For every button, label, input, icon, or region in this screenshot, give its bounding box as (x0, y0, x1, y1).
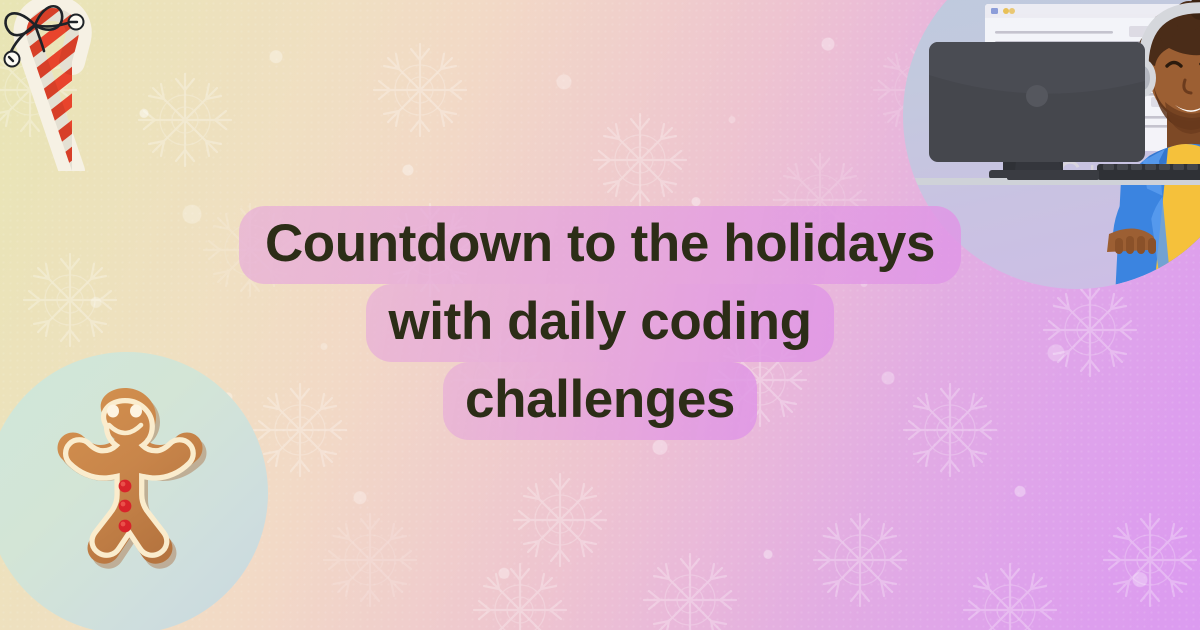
headline-line-1-text: Countdown to the holidays (239, 206, 961, 284)
headline-line-1: Countdown to the holidays (0, 206, 1200, 284)
page-title: Countdown to the holidays with daily cod… (0, 206, 1200, 440)
headline-line-3-text: challenges (443, 362, 757, 440)
monitor-logo-icon (1026, 85, 1048, 107)
headline-line-2-text: with daily coding (366, 284, 833, 362)
window-icon-blue (991, 8, 998, 14)
headline-line-2: with daily coding (0, 284, 1200, 362)
holiday-banner: </> (0, 0, 1200, 630)
monitor (929, 42, 1145, 179)
button-1 (119, 480, 132, 493)
window-icon-yellow (1003, 8, 1009, 14)
candy-cane (2, 0, 122, 171)
headline-line-3: challenges (0, 362, 1200, 440)
window-icon-yellow-2 (1009, 8, 1015, 14)
button-2 (119, 500, 132, 513)
button-3 (119, 520, 132, 533)
